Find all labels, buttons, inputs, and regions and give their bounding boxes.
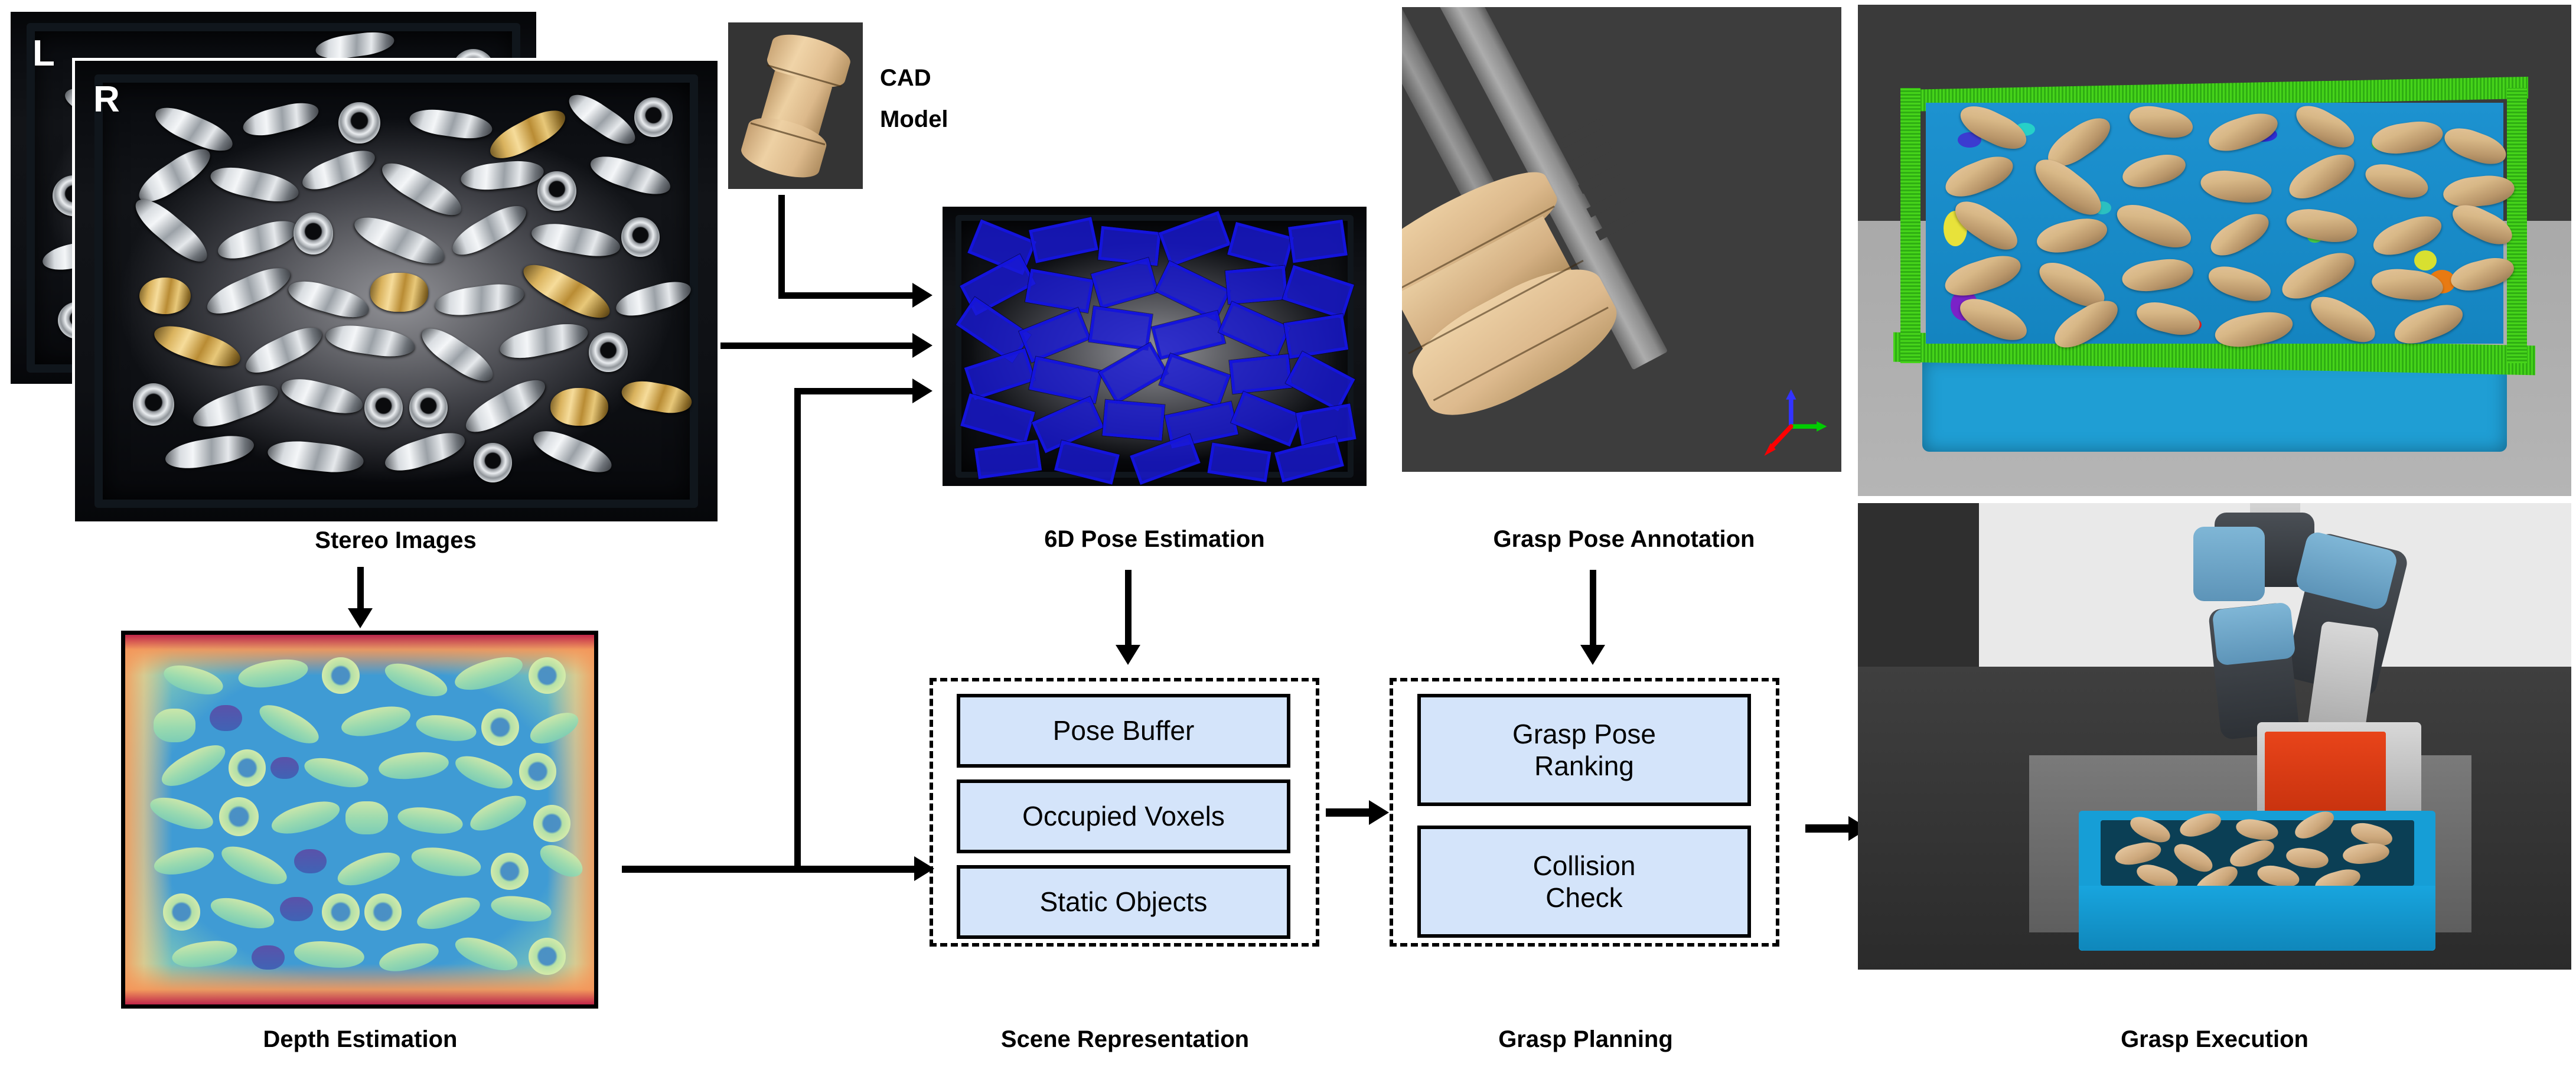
arrow-stereo-to-depth-line (357, 567, 364, 611)
point-cloud-image (1858, 5, 2571, 496)
arrow-pose-to-scene-head (1116, 645, 1140, 665)
grasp-pose-annotation-image (1402, 7, 1841, 472)
cad-part-shape (738, 27, 854, 184)
arrow-cad-to-pose-vertical (778, 195, 785, 298)
point-cloud-rim-left (1900, 88, 1920, 363)
scene-block-occupied-voxels-label: Occupied Voxels (1022, 800, 1225, 832)
scene-block-occupied-voxels[interactable]: Occupied Voxels (957, 779, 1290, 853)
pose-estimation-caption: 6D Pose Estimation (939, 527, 1370, 551)
planning-block-collision-check[interactable]: Collision Check (1417, 826, 1751, 938)
stereo-images-caption: Stereo Images (165, 529, 626, 552)
grasped-part (1402, 155, 1631, 435)
arrow-bus-to-pose-horizontal (794, 388, 921, 394)
arrow-depth-to-scene-line (622, 866, 923, 873)
pipeline-figure: L (0, 0, 2576, 1070)
scene-representation-caption: Scene Representation (909, 1027, 1341, 1051)
pose-estimation-image (943, 207, 1367, 486)
arrow-pose-to-scene-line (1125, 570, 1132, 650)
arrow-stereo-to-pose-line (720, 342, 921, 349)
robot-joint-wrist (2212, 602, 2295, 666)
depth-estimation-caption: Depth Estimation (130, 1027, 591, 1051)
arrow-annotation-to-planning-line (1590, 570, 1596, 650)
stereo-left-label: L (32, 35, 55, 72)
planning-block-collision-line2: Check (1533, 882, 1636, 914)
arrow-scene-to-planning-head (1369, 800, 1389, 825)
point-cloud-rim-right (2507, 88, 2527, 363)
planning-block-grasp-pose-ranking[interactable]: Grasp Pose Ranking (1417, 694, 1751, 806)
stereo-right-label: R (93, 81, 120, 118)
grasp-execution-caption: Grasp Execution (1990, 1027, 2439, 1051)
grasp-execution-image (1858, 503, 2571, 970)
arrow-cad-to-pose-horizontal (778, 292, 920, 299)
planning-block-collision-check-label: Collision Check (1533, 850, 1636, 914)
cad-model-label-line2: Model (880, 107, 1033, 131)
cad-model-image (728, 22, 863, 189)
grasp-pose-annotation-caption: Grasp Pose Annotation (1400, 527, 1848, 551)
planning-block-ranking-line2: Ranking (1512, 750, 1656, 782)
scene-block-static-objects-label: Static Objects (1040, 886, 1208, 918)
grasp-planning-caption: Grasp Planning (1376, 1027, 1795, 1051)
arrow-bus-to-pose-head (912, 379, 932, 403)
planning-block-collision-line1: Collision (1533, 850, 1636, 882)
scene-block-pose-buffer-label: Pose Buffer (1053, 715, 1195, 746)
arrow-annotation-to-planning-head (1580, 645, 1605, 665)
arrow-bus-vertical-trunk (794, 388, 801, 872)
arrow-cad-to-pose-head (912, 283, 932, 308)
axes-gizmo (1754, 387, 1831, 464)
planning-block-ranking-line1: Grasp Pose (1512, 718, 1656, 750)
arrow-stereo-to-depth-head (348, 608, 373, 628)
stereo-image-right (72, 58, 720, 524)
scene-block-static-objects[interactable]: Static Objects (957, 865, 1290, 939)
depth-estimation-image (121, 631, 598, 1009)
planning-block-grasp-pose-ranking-label: Grasp Pose Ranking (1512, 718, 1656, 782)
robot-joint-shoulder (2193, 527, 2265, 601)
cad-model-label-line1: CAD (880, 66, 1033, 90)
arrow-stereo-to-pose-head (912, 333, 932, 358)
scene-block-pose-buffer[interactable]: Pose Buffer (957, 694, 1290, 768)
